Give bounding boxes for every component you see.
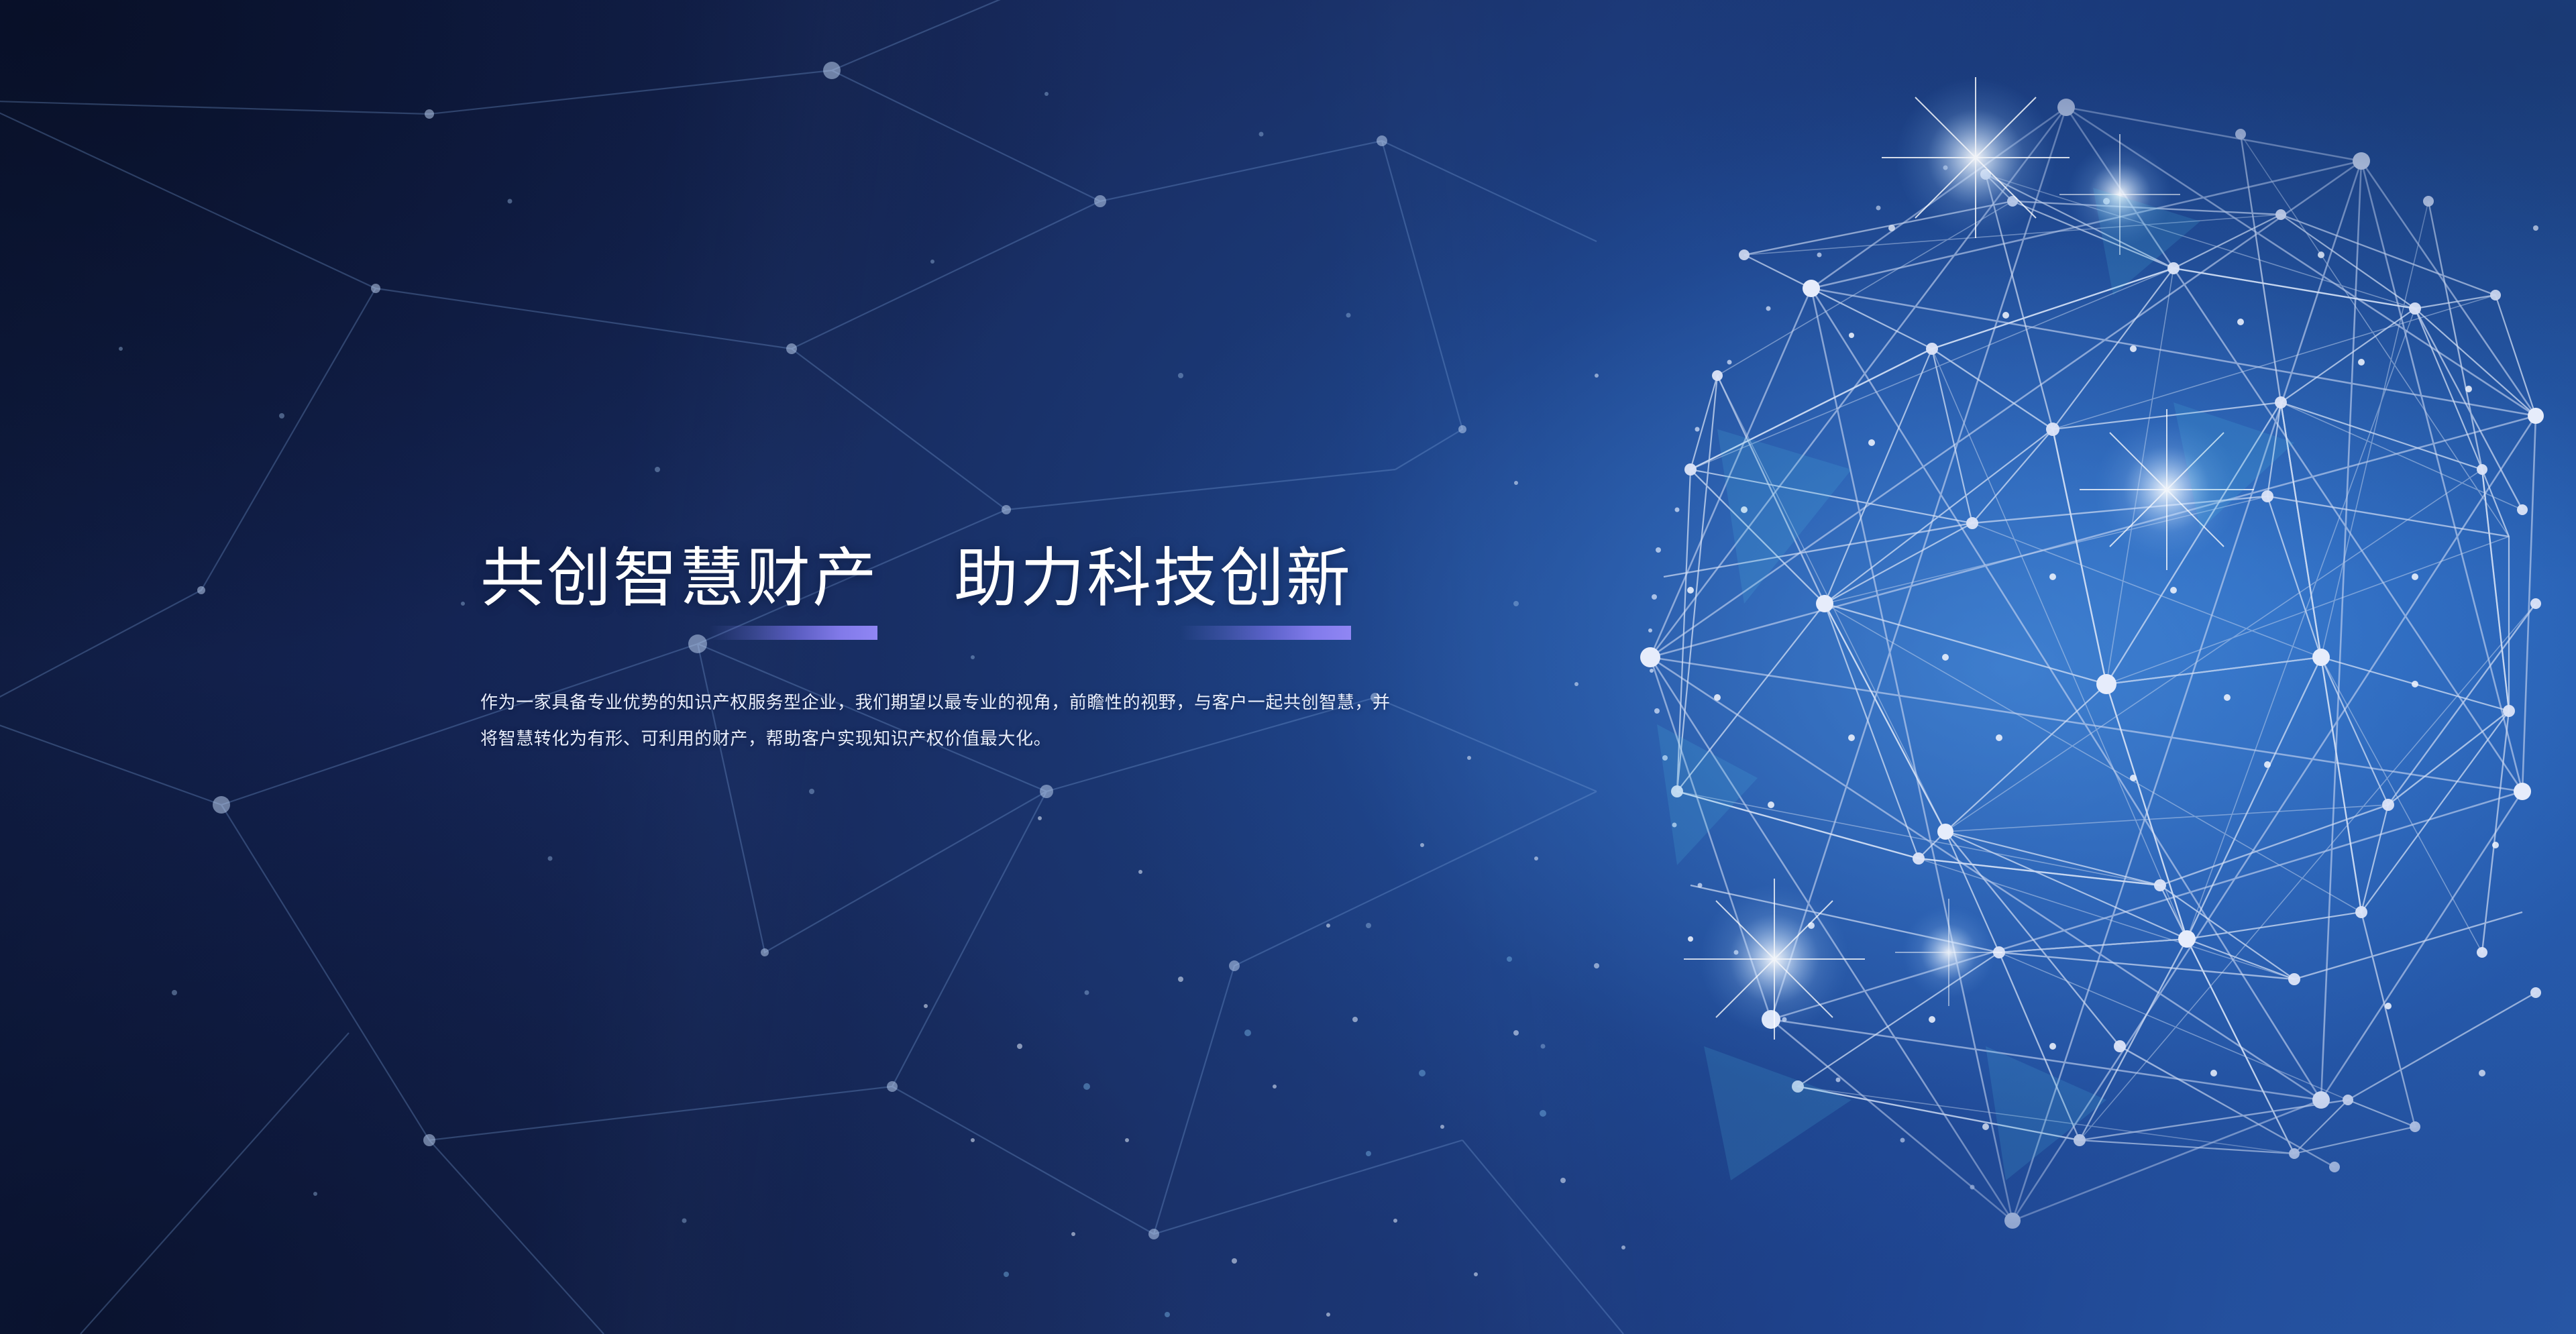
headline-segment-1: 共创智慧财产 [480, 545, 879, 613]
headline-text-secondary: 助力科技创新 [954, 545, 1352, 613]
headline-accent-bar-right [1180, 626, 1351, 640]
hero-copy: 共创智慧财产 助力科技创新 作为一家具备专业优势的知识产权服务型企业，我们期望以… [480, 545, 1433, 774]
headline-accent-bar-left [710, 626, 877, 640]
hero-description: 作为一家具备专业优势的知识产权服务型企业，我们期望以最专业的视角，前瞻性的视野，… [480, 684, 1403, 757]
banner-hero: 共创智慧财产 助力科技创新 作为一家具备专业优势的知识产权服务型企业，我们期望以… [0, 0, 2576, 1334]
headline-text-primary: 共创智慧财产 [480, 545, 879, 613]
page-title: 共创智慧财产 助力科技创新 [480, 545, 1433, 613]
headline-segment-2: 助力科技创新 [954, 545, 1352, 613]
